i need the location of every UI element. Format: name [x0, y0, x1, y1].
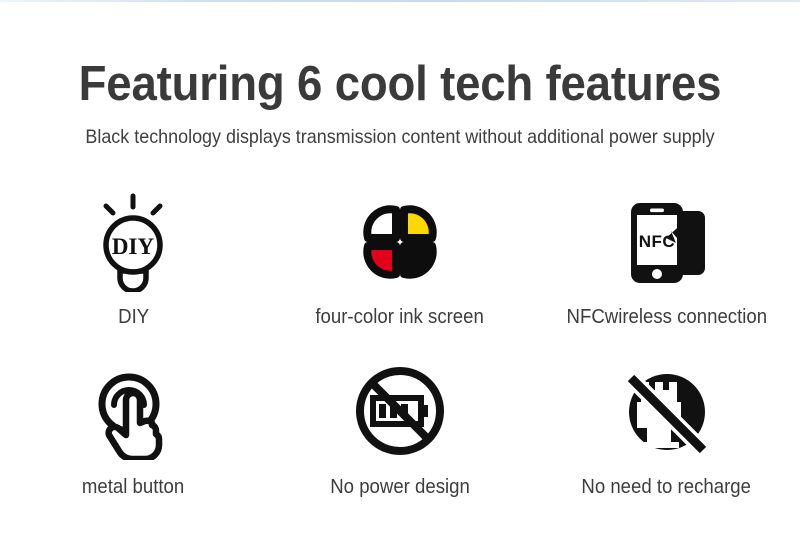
feature-item-metal-button: metal button	[0, 362, 267, 515]
heading-block: Featuring 6 cool tech features Black tec…	[0, 56, 800, 149]
feature-label-four-color-ink-screen: four-color ink screen	[316, 304, 485, 330]
page-title: Featuring 6 cool tech features	[28, 56, 772, 112]
lightbulb-diy-icon: DIY	[87, 192, 179, 292]
feature-label-nfc-wireless-connection: NFCwireless connection	[566, 304, 767, 330]
feature-item-no-power-design: No power design	[267, 362, 534, 515]
feature-highlights-page: Featuring 6 cool tech features Black tec…	[0, 0, 800, 557]
feature-label-diy: DIY	[118, 304, 149, 330]
hand-tap-touch-icon	[85, 362, 181, 462]
feature-item-four-color-ink-screen: four-color ink screen	[267, 192, 534, 345]
nfc-speaker-slot	[650, 209, 664, 213]
four-color-ink-screen-icon	[354, 192, 446, 292]
nfc-home-button	[652, 269, 662, 279]
feature-item-diy: DIY DIY	[0, 192, 267, 345]
battery-bar-1	[379, 404, 386, 418]
feature-label-no-need-to-recharge: No need to recharge	[582, 474, 752, 500]
nfc-phone-tap-icon: NFC	[619, 192, 715, 292]
ink-petal-bottom-right	[404, 246, 433, 275]
feature-item-nfc-wireless-connection: NFC NFCwireless connection	[533, 192, 800, 345]
no-plug-prohibited-icon	[619, 362, 715, 462]
feature-label-no-power-design: No power design	[330, 474, 470, 500]
feature-label-metal-button: metal button	[82, 474, 184, 500]
no-battery-prohibited-icon	[352, 362, 448, 462]
ink-petal-top-left	[367, 209, 396, 238]
features-grid: DIY DIY	[0, 192, 800, 515]
feature-item-no-need-to-recharge: No need to recharge	[533, 362, 800, 515]
page-subtitle: Black technology displays transmission c…	[32, 125, 768, 149]
lightbulb-icon-text: DIY	[112, 234, 155, 259]
ink-petal-bottom-left	[367, 246, 396, 275]
ink-petal-top-right	[404, 209, 433, 238]
battery-terminal	[421, 405, 428, 417]
